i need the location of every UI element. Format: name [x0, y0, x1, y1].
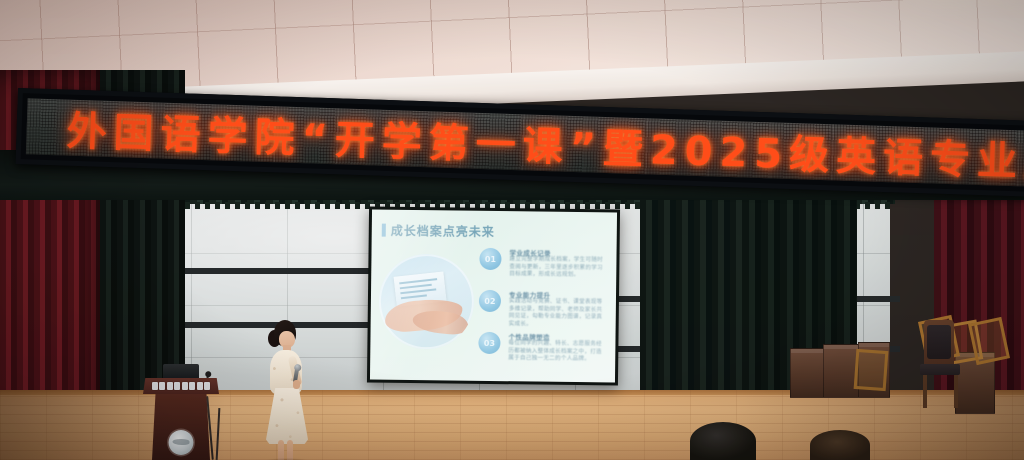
slide-item-list: 01 学业成长记录 建立完整学期成长档案，学生可随时查阅与更新，三年里逐步积累的…	[478, 247, 609, 375]
chair-seat	[920, 364, 960, 375]
podium-nameplate	[147, 381, 215, 391]
item-body: 每位同学的兴趣、特长、志愿服务经历都被纳入整体成长档案之中，打造属于自己独一无二…	[508, 340, 607, 364]
item-body: 实践活动与竞赛、证书、课堂表现等多维记录，帮助同学、老师及家长共同见证，勾勒专业…	[509, 298, 608, 330]
lecture-podium	[143, 378, 219, 460]
chair-leg	[923, 375, 927, 408]
slide-title-accent-bar	[382, 224, 386, 237]
slide-illustration-circle	[378, 254, 474, 350]
projection-screen: 成长档案点亮未来 01 学业成长记录 建立完整学期成长档案，学生可随时查阅与更新…	[367, 206, 620, 385]
item-number-badge: 03	[478, 332, 500, 354]
chair-leg	[954, 375, 958, 408]
item-body: 建立完整学期成长档案，学生可随时查阅与更新，三年里逐步积累的学习目标成果，形成长…	[509, 256, 608, 280]
presenter	[258, 320, 318, 460]
podium-monitor-icon	[163, 364, 199, 380]
hand	[293, 380, 300, 389]
list-item: 01 学业成长记录 建立完整学期成长档案，学生可随时查阅与更新，三年里逐步积累的…	[479, 247, 608, 279]
item-number-badge: 02	[479, 290, 501, 312]
list-item: 02 专业能力提升 实践活动与竞赛、证书、课堂表现等多维记录，帮助同学、老师及家…	[479, 289, 608, 321]
university-crest-icon	[169, 430, 194, 455]
list-item: 03 个性品牌塑造 每位同学的兴趣、特长、志愿服务经历都被纳入整体成长档案之中，…	[478, 331, 607, 363]
auditorium-chair	[918, 320, 962, 408]
podium-top	[143, 378, 219, 394]
auditorium-photo-scene: 外国语学院“开学第一课”暨2025级英语专业入学教育 成长档案点亮未来	[0, 0, 1024, 460]
slide-title: 成长档案点亮未来	[391, 222, 495, 240]
podium-body	[152, 394, 210, 460]
right-dark-curtain	[640, 175, 745, 425]
dress-skirt	[266, 388, 308, 444]
chair-cushion	[927, 325, 951, 359]
item-number-badge: 01	[479, 248, 501, 270]
audience-head	[690, 422, 756, 460]
presentation-slide: 成长档案点亮未来 01 学业成长记录 建立完整学期成长档案，学生可随时查阅与更新…	[370, 210, 617, 383]
audience-head	[810, 430, 870, 460]
legs	[278, 440, 295, 460]
chair-frame	[854, 349, 889, 391]
storage-cabinet	[790, 348, 826, 398]
